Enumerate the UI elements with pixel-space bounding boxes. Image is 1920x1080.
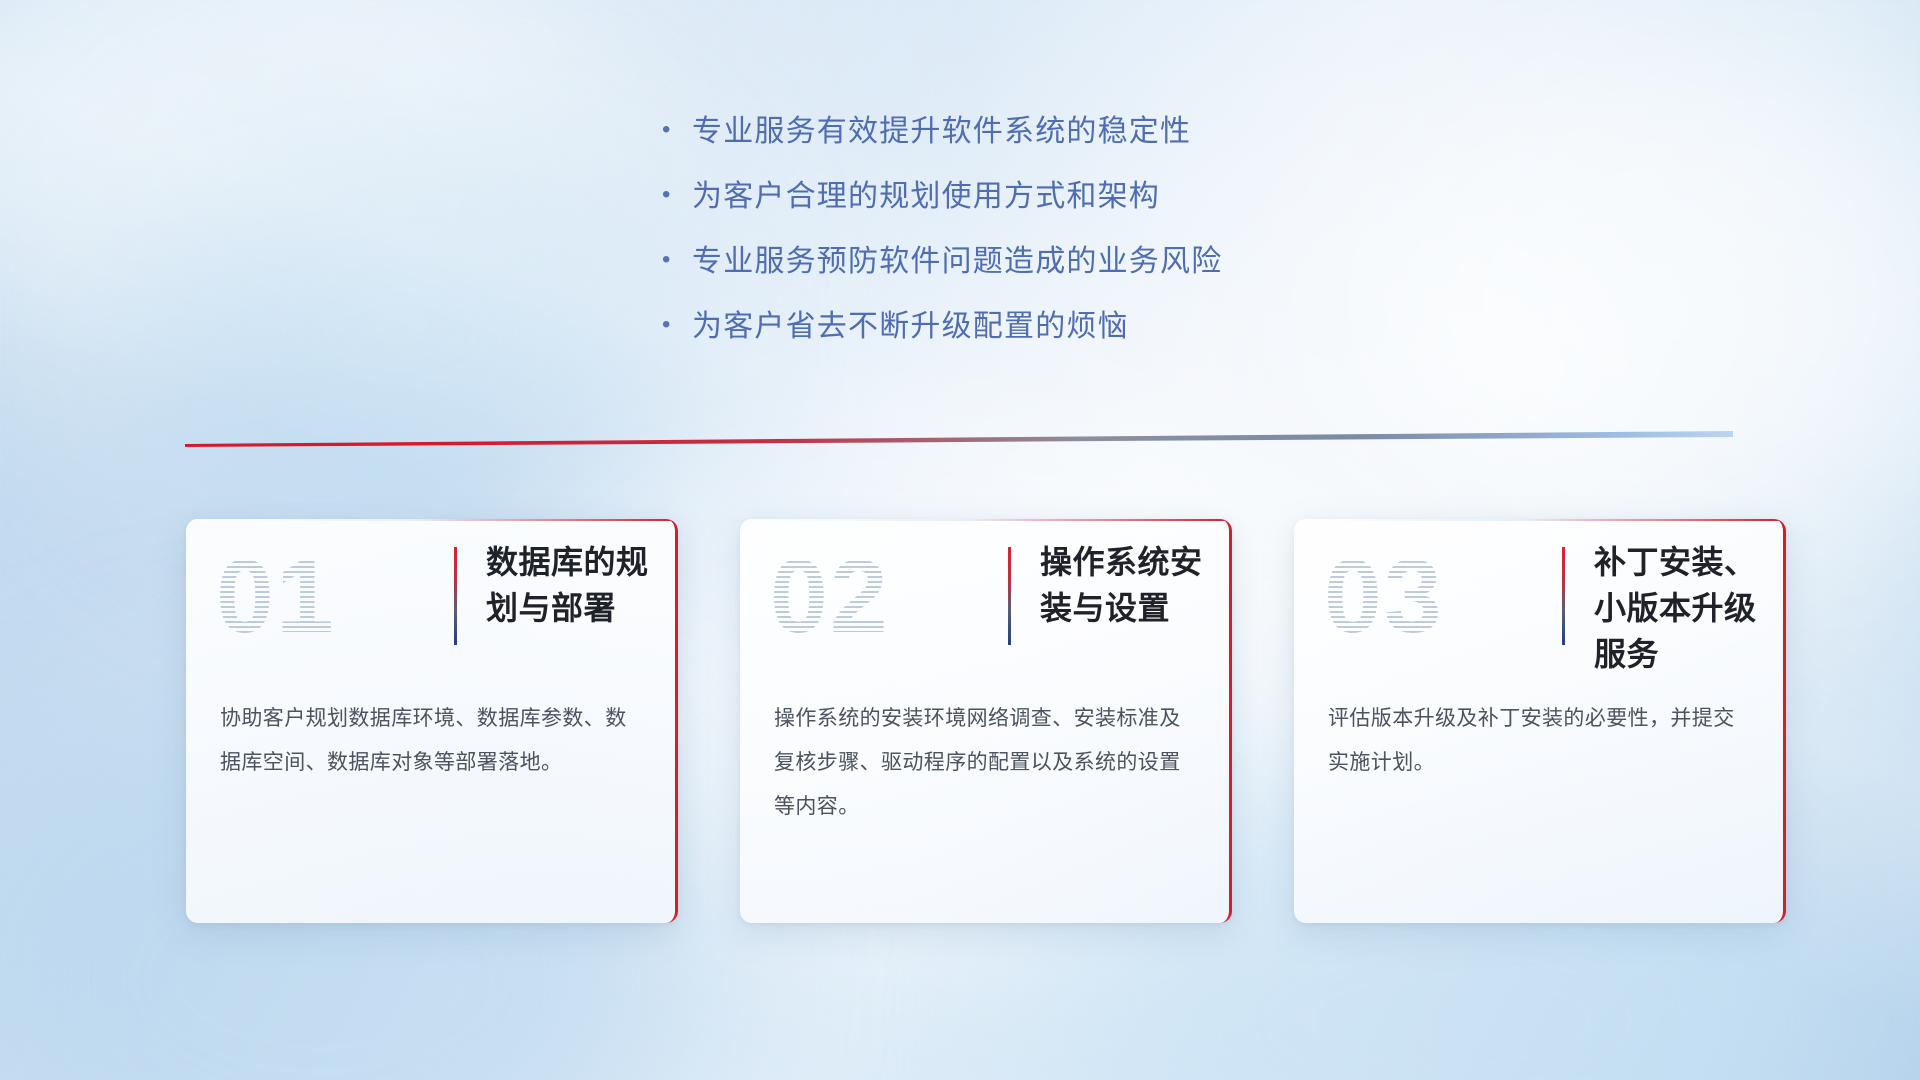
- bullet-point-icon: •: [662, 183, 692, 207]
- bullet-text: 专业服务有效提升软件系统的稳定性: [692, 106, 1191, 150]
- card-title: 数据库的规划与部署: [486, 539, 662, 631]
- card-number-watermark: 03: [1324, 541, 1534, 653]
- bullet-text: 为客户合理的规划使用方式和架构: [692, 171, 1160, 215]
- card-header: 03 补丁安装、小版本升级服务: [1294, 519, 1783, 669]
- card-body-text: 协助客户规划数据库环境、数据库参数、数据库空间、数据库对象等部署落地。: [220, 697, 638, 785]
- list-item: • 为客户省去不断升级配置的烦恼: [662, 301, 1442, 366]
- bullet-point-icon: •: [662, 118, 692, 142]
- bullet-point-icon: •: [662, 313, 692, 337]
- list-item: • 专业服务预防软件问题造成的业务风险: [662, 236, 1442, 301]
- service-card-group: 01 数据库的规划与部署 协助客户规划数据库环境、数据库参数、数据库空间、数据库…: [186, 519, 1786, 923]
- bullet-point-icon: •: [662, 248, 692, 272]
- card-title: 操作系统安装与设置: [1040, 539, 1216, 631]
- divider-wedge-shape: [185, 428, 1733, 448]
- background-glow-upper-left: [120, 120, 680, 540]
- title-accent-bar: [1008, 547, 1011, 645]
- section-divider: [185, 428, 1733, 448]
- card-title: 补丁安装、小版本升级服务: [1594, 539, 1770, 677]
- card-number-watermark: 01: [216, 541, 426, 653]
- bullet-list: • 专业服务有效提升软件系统的稳定性 • 为客户合理的规划使用方式和架构 • 专…: [662, 106, 1442, 366]
- background-glow-top-left: [0, 0, 600, 440]
- service-card[interactable]: 03 补丁安装、小版本升级服务 评估版本升级及补丁安装的必要性，并提交实施计划。: [1294, 519, 1786, 923]
- bullet-text: 为客户省去不断升级配置的烦恼: [692, 301, 1129, 345]
- title-accent-bar: [454, 547, 457, 645]
- service-card[interactable]: 02 操作系统安装与设置 操作系统的安装环境网络调查、安装标准及复核步骤、驱动程…: [740, 519, 1232, 923]
- card-body-text: 操作系统的安装环境网络调查、安装标准及复核步骤、驱动程序的配置以及系统的设置等内…: [774, 697, 1192, 829]
- bullet-text: 专业服务预防软件问题造成的业务风险: [692, 236, 1222, 280]
- card-body-text: 评估版本升级及补丁安装的必要性，并提交实施计划。: [1328, 697, 1746, 785]
- list-item: • 专业服务有效提升软件系统的稳定性: [662, 106, 1442, 171]
- card-header: 01 数据库的规划与部署: [186, 519, 675, 669]
- title-accent-bar: [1562, 547, 1565, 645]
- card-header: 02 操作系统安装与设置: [740, 519, 1229, 669]
- card-number-watermark: 02: [770, 541, 980, 653]
- list-item: • 为客户合理的规划使用方式和架构: [662, 171, 1442, 236]
- service-card[interactable]: 01 数据库的规划与部署 协助客户规划数据库环境、数据库参数、数据库空间、数据库…: [186, 519, 678, 923]
